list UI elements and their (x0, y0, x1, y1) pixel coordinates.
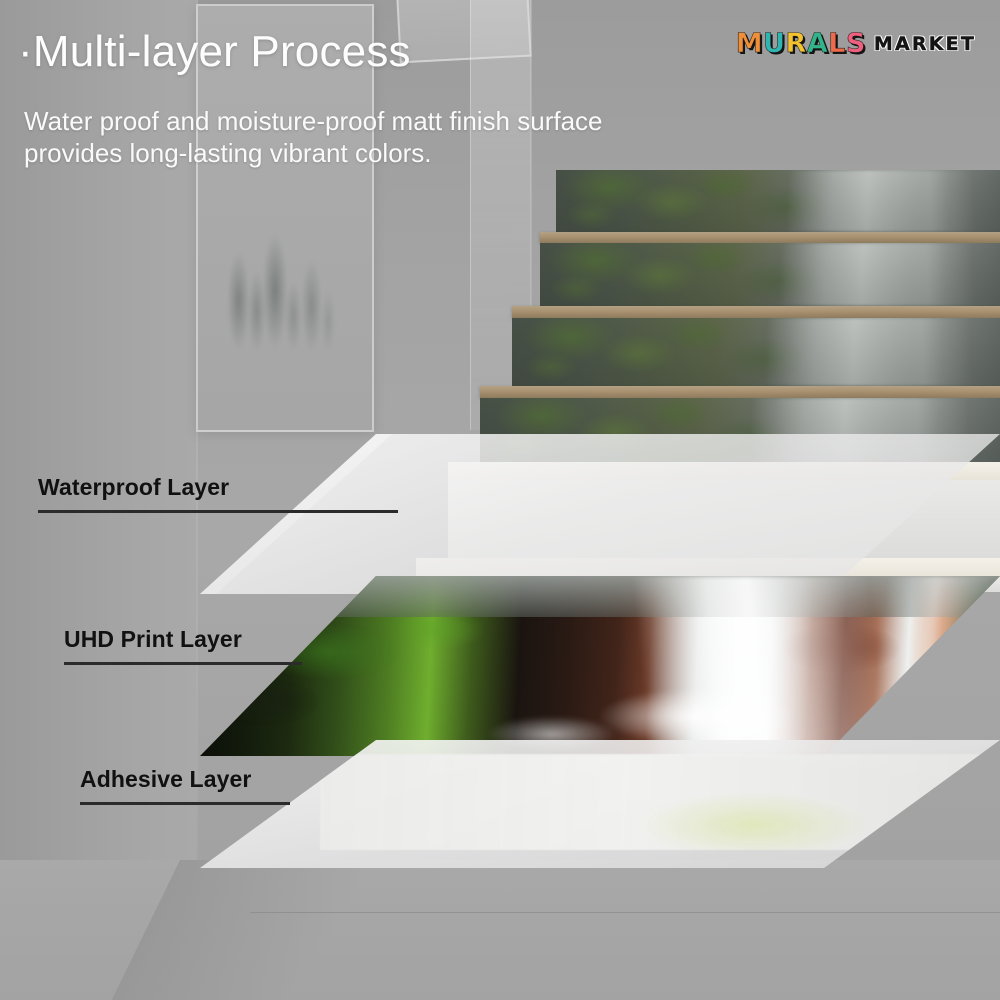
infographic-canvas: ·Multi-layer Process Water proof and moi… (0, 0, 1000, 1000)
layer-label-adhesive-rule (80, 802, 290, 805)
title-text: Multi-layer Process (33, 27, 411, 76)
stair-tread-1 (540, 232, 1000, 243)
layer-label-waterproof-rule (38, 510, 398, 513)
stair-riser-1 (556, 170, 1000, 232)
uhd-print-sheet (200, 576, 1000, 756)
waterproof-sheet (200, 434, 1000, 594)
title-bullet: · (18, 27, 33, 76)
subtitle: Water proof and moisture-proof matt fini… (24, 106, 814, 169)
stair-riser-3 (512, 318, 1000, 386)
stair-tread-2 (512, 306, 1000, 318)
brand-letter-r-2: R (786, 30, 807, 57)
layer-label-waterproof: Waterproof Layer (38, 474, 229, 501)
print-waterfall-spray (200, 576, 1000, 756)
brand-logo-market: MARKET (874, 33, 976, 57)
brand-letter-s-5: S (846, 30, 866, 57)
layer-label-uhd-print-rule (64, 662, 302, 665)
layer-label-uhd-print-text: UHD Print Layer (64, 626, 242, 653)
waterproof-layer-panel (200, 434, 1000, 594)
adhesive-sheet (200, 740, 1000, 868)
layer-label-waterproof-text: Waterproof Layer (38, 474, 229, 501)
stair-tread-3 (480, 386, 1000, 398)
brand-letter-a-3: A (807, 30, 828, 57)
layer-label-adhesive: Adhesive Layer (80, 766, 251, 793)
brand-logo-murals: MURALS (736, 30, 866, 57)
layer-label-uhd-print: UHD Print Layer (64, 626, 242, 653)
riser-shade-1 (556, 170, 1000, 232)
brand-letter-l-4: L (828, 30, 846, 57)
subtitle-line-1: Water proof and moisture-proof matt fini… (24, 106, 814, 138)
layer-label-adhesive-text: Adhesive Layer (80, 766, 251, 793)
page-title: ·Multi-layer Process (18, 27, 411, 77)
brand-letter-m-0: M (736, 30, 763, 57)
subtitle-line-2: provides long-lasting vibrant colors. (24, 138, 814, 170)
riser-shade-3 (512, 318, 1000, 386)
riser-shade-2 (540, 243, 1000, 306)
adhesive-layer-panel (200, 740, 1000, 868)
uhd-print-layer-panel (200, 576, 1000, 756)
adhesive-sheet-inner (320, 754, 1000, 850)
brand-letter-u-1: U (763, 30, 785, 57)
stair-riser-2 (540, 243, 1000, 306)
brand-logo[interactable]: MURALS MARKET (736, 30, 976, 57)
